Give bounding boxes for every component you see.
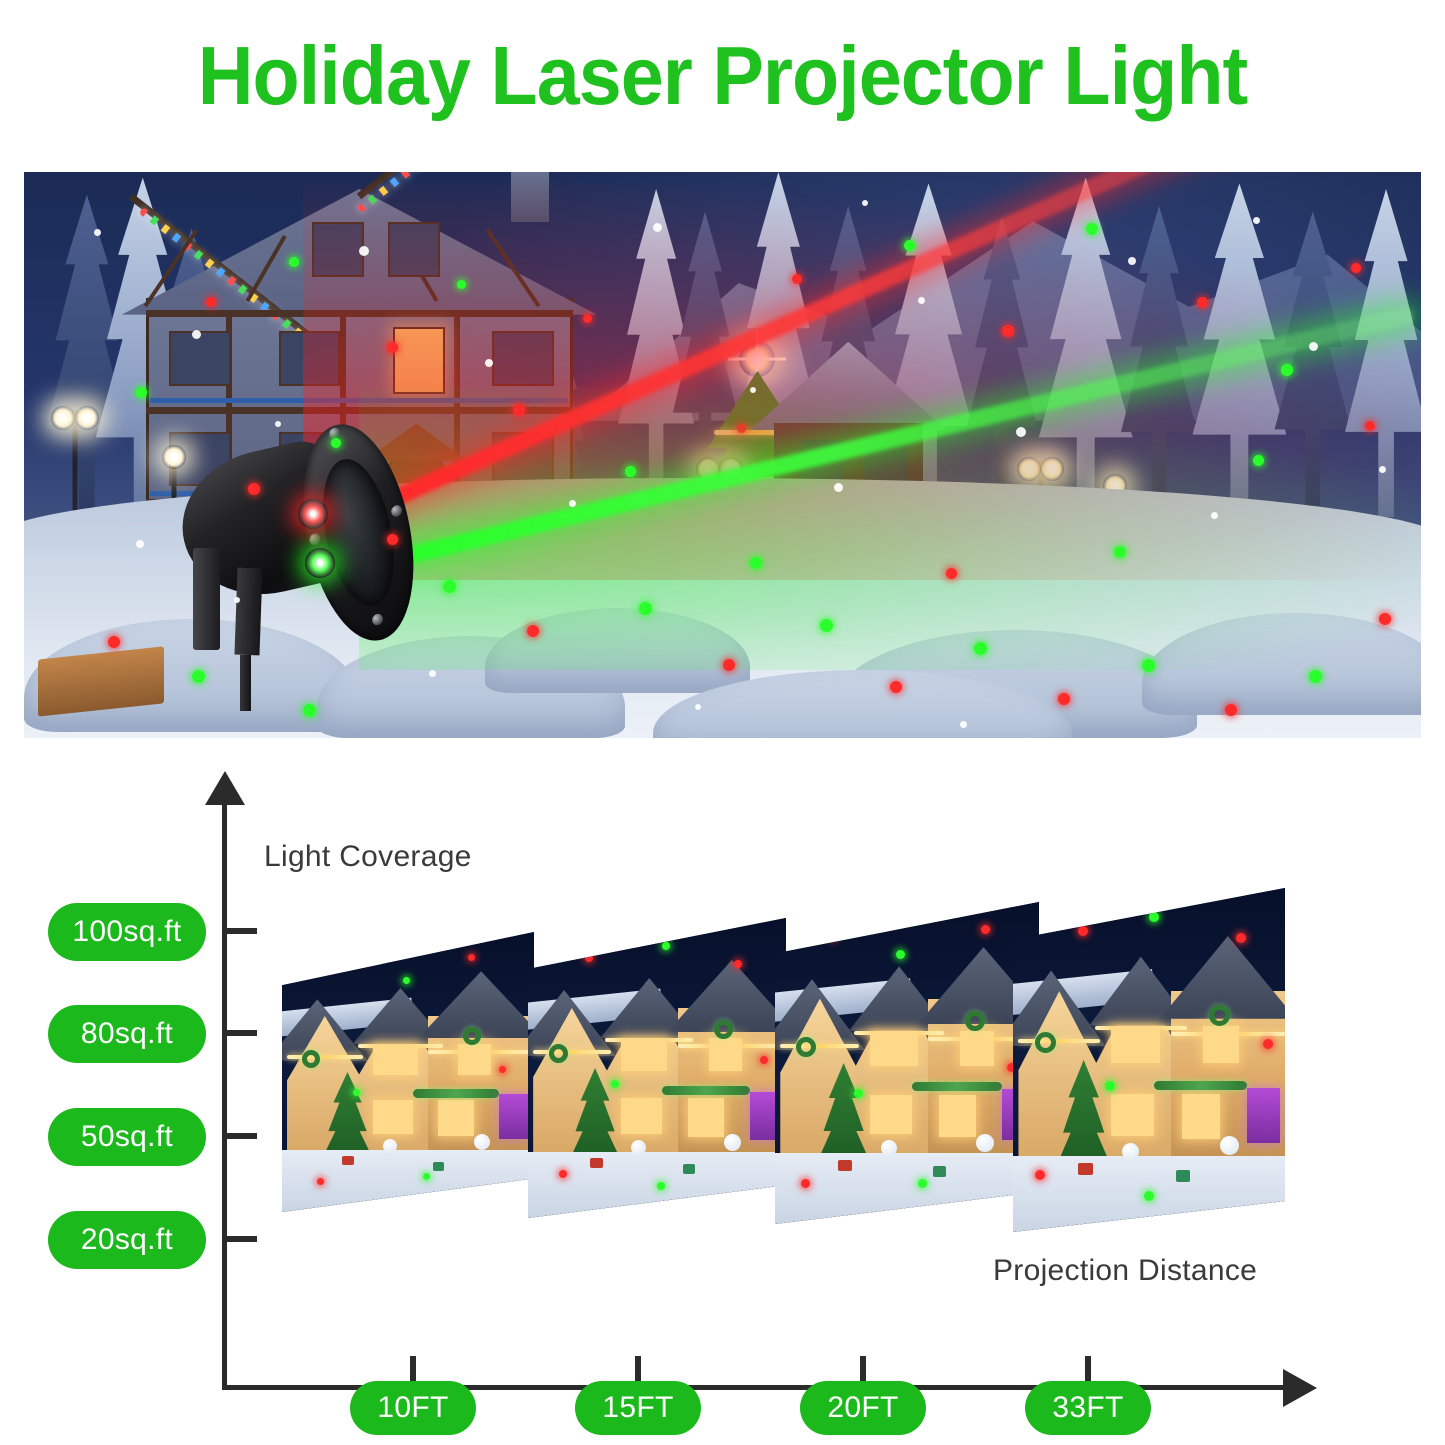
x-axis-arrowhead [1283,1369,1317,1407]
infographic-page: Holiday Laser Projector Light [0,0,1445,1445]
y-tick-80 [227,1030,257,1036]
x-label-pill-10ft: 10FT [350,1381,476,1435]
y-tick-20 [227,1236,257,1242]
coverage-chart: Light Coverage Projection Distance [0,760,1445,1445]
lit-window [393,327,445,394]
ground-stake [240,655,251,711]
projector-bracket [193,548,220,650]
projection-panel-10ft [282,932,534,1212]
attic-window [388,222,440,276]
y-axis-label: Light Coverage [264,840,472,874]
chimney [511,172,549,222]
x-label-pill-33ft: 33FT [1025,1381,1151,1435]
projection-panel-15ft [528,918,786,1218]
y-label-pill-100: 100sq.ft [48,903,206,961]
x-label-pill-15ft: 15FT [575,1381,701,1435]
x-label-pill-20ft: 20FT [800,1381,926,1435]
projection-panel-20ft [775,902,1039,1224]
y-tick-100 [227,928,257,934]
y-tick-50 [227,1133,257,1139]
green-emitter [305,548,335,578]
y-label-pill-80: 80sq.ft [48,1005,206,1063]
laser-projector-device [182,415,406,670]
projection-panel-33ft [1013,888,1285,1232]
y-axis-line [222,800,227,1390]
hero-product-photo [24,172,1421,738]
y-axis-arrowhead [205,771,245,805]
y-label-pill-20: 20sq.ft [48,1211,206,1269]
y-label-pill-50: 50sq.ft [48,1108,206,1166]
x-axis-label: Projection Distance [993,1254,1257,1288]
attic-window [312,222,364,276]
page-title: Holiday Laser Projector Light [51,28,1395,124]
projector-stem [234,568,262,655]
projector-lens [310,449,406,616]
